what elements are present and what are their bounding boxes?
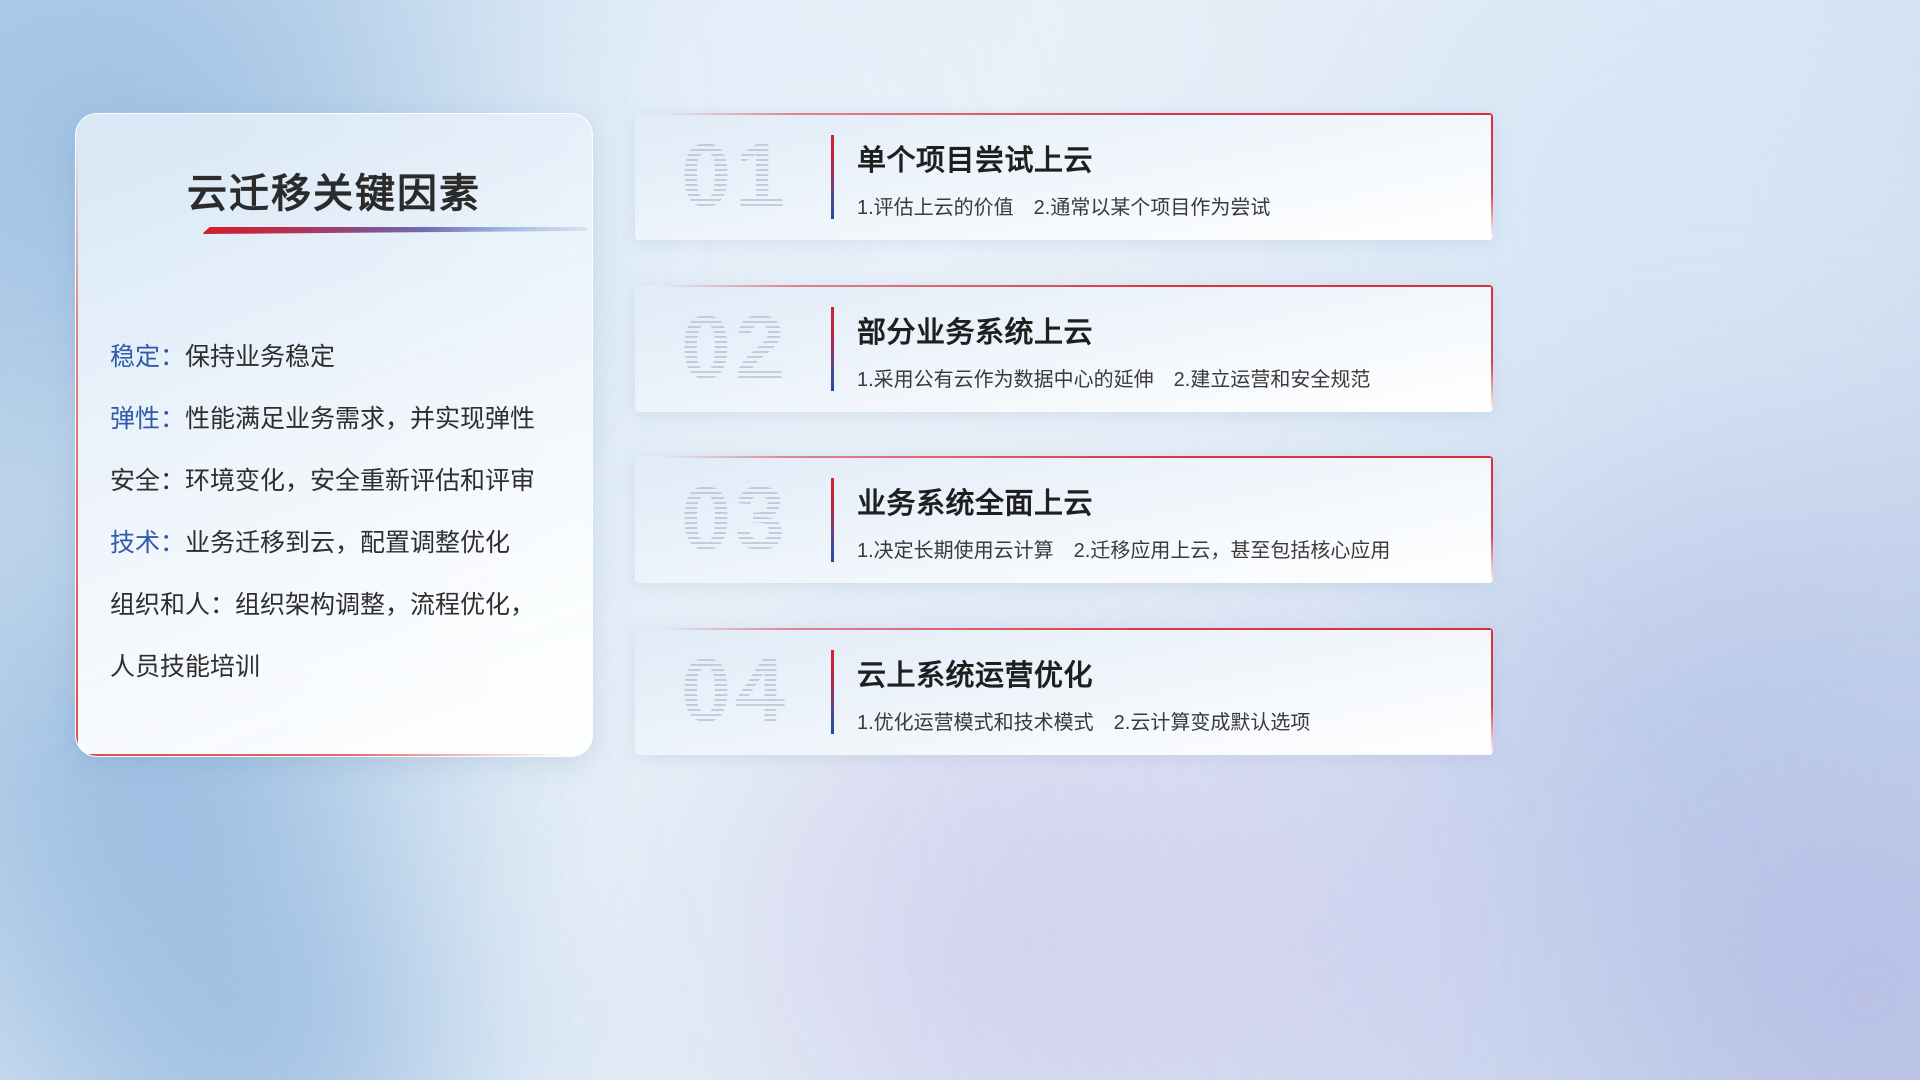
key-factor-label: 安全： — [110, 467, 185, 495]
stage-number-watermark: 02 — [659, 296, 811, 400]
key-factor-label: 稳定： — [110, 343, 185, 371]
stage-card[interactable]: 04 云上系统运营优化 1.优化运营模式和技术模式 2.云计算变成默认选项 — [635, 628, 1493, 755]
stage-subtitle: 1.采用公有云作为数据中心的延伸 2.建立运营和安全规范 — [857, 363, 1370, 392]
key-factor-label: 技术： — [110, 529, 185, 557]
stage-title: 云上系统运营优化 — [857, 652, 1093, 694]
stage-number-watermark: 04 — [659, 639, 811, 743]
stage-divider-bar — [831, 307, 834, 391]
stage-number-watermark: 01 — [659, 124, 811, 228]
key-factor-item: 技术：业务迁移到云，配置调整优化 — [110, 512, 572, 574]
key-factor-item: 稳定：保持业务稳定 — [110, 326, 572, 388]
stage-subtitle: 1.评估上云的价值 2.通常以某个项目作为尝试 — [857, 191, 1270, 220]
stage-subtitle: 1.决定长期使用云计算 2.迁移应用上云，甚至包括核心应用 — [857, 534, 1390, 563]
key-factor-text: 组织架构调整，流程优化， — [235, 591, 535, 619]
key-factor-label: 弹性： — [110, 405, 185, 433]
page-title: 云迁移关键因素 — [76, 161, 592, 219]
key-factor-item: 人员技能培训 — [110, 636, 572, 698]
stage-card[interactable]: 03 业务系统全面上云 1.决定长期使用云计算 2.迁移应用上云，甚至包括核心应… — [635, 456, 1493, 583]
key-factor-item: 组织和人：组织架构调整，流程优化， — [110, 574, 572, 636]
key-factor-text: 性能满足业务需求，并实现弹性 — [185, 405, 535, 433]
stage-title: 单个项目尝试上云 — [857, 137, 1093, 179]
key-factor-text: 环境变化，安全重新评估和评审 — [185, 467, 535, 495]
stage-title: 业务系统全面上云 — [857, 480, 1093, 522]
stage-divider-bar — [831, 478, 834, 562]
key-factor-text: 保持业务稳定 — [185, 343, 335, 371]
key-factor-text: 业务迁移到云，配置调整优化 — [185, 529, 510, 557]
key-factors-panel: 云迁移关键因素 稳定：保持业务稳定弹性：性能满足业务需求，并实现弹性安全：环境变… — [75, 113, 593, 757]
key-factor-text: 人员技能培训 — [110, 653, 260, 681]
stage-number-watermark: 03 — [659, 467, 811, 571]
stage-divider-bar — [831, 135, 834, 219]
stage-divider-bar — [831, 650, 834, 734]
key-factor-item: 安全：环境变化，安全重新评估和评审 — [110, 450, 572, 512]
key-factor-label: 组织和人： — [110, 591, 235, 619]
stage-subtitle: 1.优化运营模式和技术模式 2.云计算变成默认选项 — [857, 706, 1310, 735]
stage-card[interactable]: 01 单个项目尝试上云 1.评估上云的价值 2.通常以某个项目作为尝试 — [635, 113, 1493, 240]
title-underline-rule — [202, 227, 587, 234]
key-factor-item: 弹性：性能满足业务需求，并实现弹性 — [110, 388, 572, 450]
key-factors-list: 稳定：保持业务稳定弹性：性能满足业务需求，并实现弹性安全：环境变化，安全重新评估… — [110, 326, 572, 698]
stage-title: 部分业务系统上云 — [857, 309, 1093, 351]
stage-card[interactable]: 02 部分业务系统上云 1.采用公有云作为数据中心的延伸 2.建立运营和安全规范 — [635, 285, 1493, 412]
